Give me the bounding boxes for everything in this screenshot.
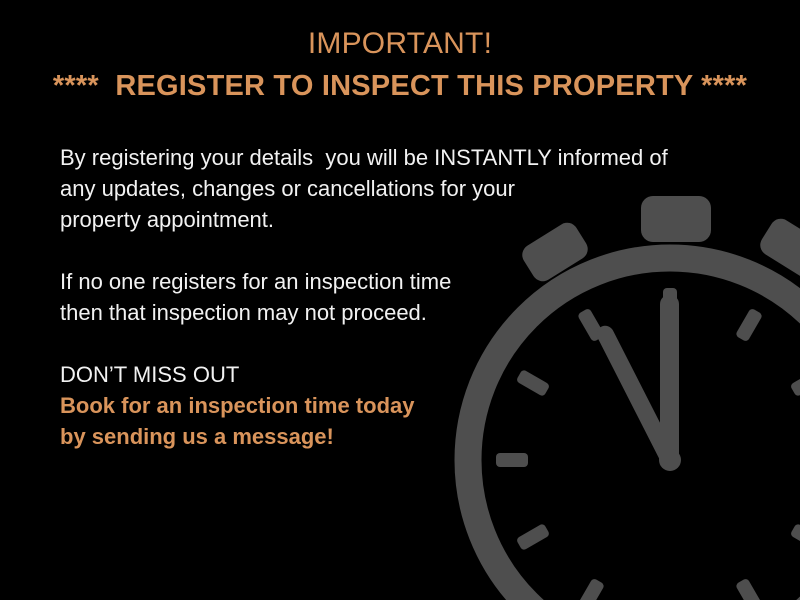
promotional-slide: IMPORTANT! **** REGISTER TO INSPECT THIS… [0,0,800,600]
heading-block: IMPORTANT! **** REGISTER TO INSPECT THIS… [0,24,800,108]
paragraph1-line3: property appointment. [60,204,740,235]
paragraph-spacer-1 [60,235,740,266]
page-title-important: IMPORTANT! [0,24,800,64]
paragraph-no-registration-warning: If no one registers for an inspection ti… [60,266,740,328]
paragraph2-line1: If no one registers for an inspection ti… [60,266,740,297]
paragraph1-line1: By registering your details you will be … [60,142,740,173]
clock-center-pin [659,449,681,471]
clock-right-button [756,215,800,282]
cta-send-message: by sending us a message! [60,421,740,452]
page-title-register: **** REGISTER TO INSPECT THIS PROPERTY *… [0,64,800,108]
cta-dont-miss-out: DON’T MISS OUT [60,359,740,390]
paragraph-registering-benefits: By registering your details you will be … [60,142,740,235]
paragraph1-line2: any updates, changes or cancellations fo… [60,173,740,204]
paragraph-spacer-2 [60,328,740,359]
paragraph-call-to-action: DON’T MISS OUT Book for an inspection ti… [60,359,740,452]
paragraph2-line2: then that inspection may not proceed. [60,297,740,328]
body-copy: By registering your details you will be … [60,142,740,452]
cta-book-inspection: Book for an inspection time today [60,390,740,421]
